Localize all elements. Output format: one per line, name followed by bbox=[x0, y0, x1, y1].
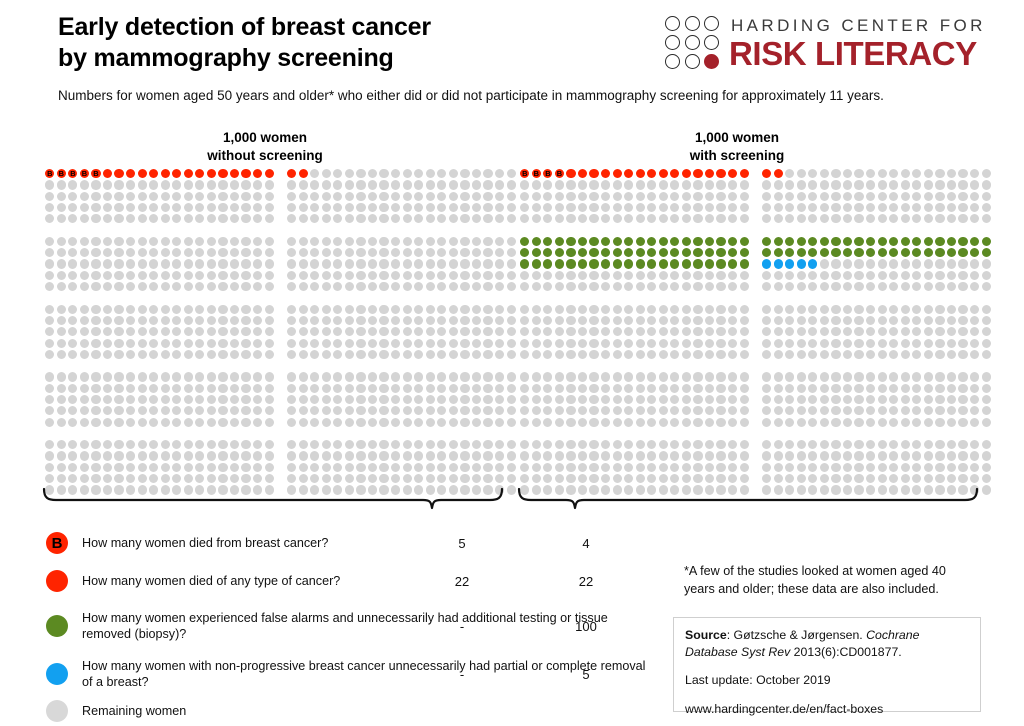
dot bbox=[45, 474, 54, 483]
row-band-gap bbox=[519, 224, 750, 231]
dot bbox=[532, 305, 541, 314]
row-band-gap bbox=[44, 360, 275, 367]
dot bbox=[103, 463, 112, 472]
dot bbox=[670, 350, 679, 359]
dot bbox=[716, 372, 725, 381]
dot bbox=[636, 474, 645, 483]
dot bbox=[345, 418, 354, 427]
dot bbox=[670, 237, 679, 246]
dot bbox=[91, 248, 100, 257]
dot bbox=[831, 271, 840, 280]
dot bbox=[901, 440, 910, 449]
dot bbox=[114, 463, 123, 472]
dot bbox=[958, 316, 967, 325]
dot bbox=[982, 248, 991, 257]
dot bbox=[195, 327, 204, 336]
dot bbox=[693, 271, 702, 280]
dot bbox=[403, 395, 412, 404]
dot bbox=[195, 192, 204, 201]
dot bbox=[543, 418, 552, 427]
dot bbox=[740, 316, 749, 325]
row-band-gap bbox=[286, 224, 517, 231]
dot bbox=[379, 418, 388, 427]
dot bbox=[728, 418, 737, 427]
dot bbox=[449, 248, 458, 257]
dot bbox=[495, 463, 504, 472]
dot bbox=[843, 395, 852, 404]
dot bbox=[68, 372, 77, 381]
dot bbox=[532, 406, 541, 415]
dot bbox=[68, 463, 77, 472]
dot bbox=[184, 259, 193, 268]
dot bbox=[636, 327, 645, 336]
dot bbox=[495, 406, 504, 415]
dot bbox=[578, 350, 587, 359]
dot bbox=[310, 259, 319, 268]
dot bbox=[682, 192, 691, 201]
dot bbox=[403, 406, 412, 415]
dot bbox=[878, 237, 887, 246]
dot bbox=[935, 327, 944, 336]
dot bbox=[207, 282, 216, 291]
dot bbox=[265, 248, 274, 257]
dot bbox=[184, 339, 193, 348]
dot bbox=[218, 192, 227, 201]
dot bbox=[80, 406, 89, 415]
dot bbox=[762, 451, 771, 460]
dot bbox=[287, 372, 296, 381]
dot bbox=[265, 372, 274, 381]
dot bbox=[636, 180, 645, 189]
dot bbox=[716, 406, 725, 415]
dot bbox=[103, 474, 112, 483]
dot bbox=[808, 418, 817, 427]
dot bbox=[808, 271, 817, 280]
dot bbox=[808, 248, 817, 257]
dot bbox=[45, 395, 54, 404]
dot bbox=[507, 203, 516, 212]
dot bbox=[218, 463, 227, 472]
dot bbox=[601, 440, 610, 449]
dot bbox=[253, 214, 262, 223]
dot bbox=[495, 214, 504, 223]
dot bbox=[299, 384, 308, 393]
dot bbox=[265, 203, 274, 212]
dot bbox=[103, 440, 112, 449]
dot bbox=[566, 440, 575, 449]
dot bbox=[472, 282, 481, 291]
dot bbox=[901, 451, 910, 460]
dot bbox=[460, 451, 469, 460]
dot bbox=[103, 214, 112, 223]
dot bbox=[310, 384, 319, 393]
dot bbox=[693, 305, 702, 314]
dot bbox=[391, 418, 400, 427]
dot bbox=[449, 271, 458, 280]
dot bbox=[762, 406, 771, 415]
dot bbox=[310, 474, 319, 483]
dot bbox=[647, 440, 656, 449]
dot bbox=[172, 259, 181, 268]
dot bbox=[126, 372, 135, 381]
dot bbox=[566, 180, 575, 189]
dot bbox=[705, 316, 714, 325]
dot bbox=[636, 169, 645, 178]
dot bbox=[126, 305, 135, 314]
dot bbox=[924, 451, 933, 460]
dot bbox=[414, 259, 423, 268]
dot bbox=[566, 339, 575, 348]
dot bbox=[555, 350, 564, 359]
dot bbox=[831, 463, 840, 472]
dot bbox=[740, 259, 749, 268]
dot bbox=[878, 259, 887, 268]
dot bbox=[114, 451, 123, 460]
brace-with-screening bbox=[517, 487, 979, 517]
dot bbox=[682, 259, 691, 268]
dot bbox=[578, 169, 587, 178]
dot bbox=[265, 463, 274, 472]
dot bbox=[345, 169, 354, 178]
dot bbox=[647, 237, 656, 246]
dot bbox=[80, 316, 89, 325]
dot bbox=[578, 418, 587, 427]
dot bbox=[172, 192, 181, 201]
dot bbox=[785, 406, 794, 415]
dot bbox=[80, 418, 89, 427]
dot bbox=[520, 339, 529, 348]
dot bbox=[356, 339, 365, 348]
dot bbox=[68, 440, 77, 449]
dot bbox=[253, 282, 262, 291]
dot bbox=[647, 372, 656, 381]
dot bbox=[543, 316, 552, 325]
logo-dot-grid-icon bbox=[665, 16, 723, 72]
dot bbox=[80, 440, 89, 449]
dot bbox=[414, 451, 423, 460]
dot bbox=[716, 192, 725, 201]
dot bbox=[716, 474, 725, 483]
dot bbox=[184, 305, 193, 314]
dot bbox=[91, 305, 100, 314]
dot bbox=[958, 305, 967, 314]
dot bbox=[287, 327, 296, 336]
dot bbox=[982, 339, 991, 348]
dot bbox=[578, 474, 587, 483]
dot bbox=[241, 451, 250, 460]
dot bbox=[970, 259, 979, 268]
dot bbox=[958, 451, 967, 460]
dot bbox=[114, 418, 123, 427]
dot bbox=[970, 463, 979, 472]
dot bbox=[495, 305, 504, 314]
dot bbox=[866, 237, 875, 246]
dot bbox=[91, 259, 100, 268]
dot bbox=[958, 327, 967, 336]
dot bbox=[659, 271, 668, 280]
dot bbox=[126, 203, 135, 212]
dot bbox=[601, 406, 610, 415]
dot bbox=[403, 384, 412, 393]
dot bbox=[126, 350, 135, 359]
dot bbox=[449, 395, 458, 404]
dot bbox=[520, 463, 529, 472]
dot bbox=[495, 203, 504, 212]
dot bbox=[820, 406, 829, 415]
dot bbox=[520, 180, 529, 189]
dot bbox=[820, 440, 829, 449]
dot bbox=[589, 406, 598, 415]
dot bbox=[693, 406, 702, 415]
source-url[interactable]: www.hardingcenter.de/en/fact-boxes bbox=[685, 701, 969, 718]
dot bbox=[126, 474, 135, 483]
dot bbox=[808, 339, 817, 348]
dot bbox=[705, 350, 714, 359]
dot bbox=[207, 350, 216, 359]
dot bbox=[808, 463, 817, 472]
dot bbox=[437, 180, 446, 189]
dot bbox=[728, 237, 737, 246]
dot bbox=[578, 282, 587, 291]
dot bbox=[555, 339, 564, 348]
dot bbox=[91, 180, 100, 189]
dot bbox=[138, 203, 147, 212]
dot bbox=[958, 180, 967, 189]
dot bbox=[391, 248, 400, 257]
dot bbox=[80, 395, 89, 404]
dot bbox=[947, 395, 956, 404]
dot bbox=[161, 406, 170, 415]
dot bbox=[982, 474, 991, 483]
dot bbox=[45, 440, 54, 449]
dot bbox=[495, 169, 504, 178]
dot bbox=[449, 463, 458, 472]
dot bbox=[149, 214, 158, 223]
dot bbox=[728, 406, 737, 415]
dot bbox=[218, 180, 227, 189]
dot bbox=[947, 463, 956, 472]
dot bbox=[138, 418, 147, 427]
dot bbox=[774, 169, 783, 178]
dot bbox=[820, 463, 829, 472]
dot bbox=[207, 440, 216, 449]
dot bbox=[854, 214, 863, 223]
dot bbox=[426, 384, 435, 393]
dot bbox=[901, 418, 910, 427]
dot bbox=[414, 406, 423, 415]
dot bbox=[808, 384, 817, 393]
dot bbox=[299, 451, 308, 460]
dot bbox=[265, 350, 274, 359]
dot bbox=[138, 169, 147, 178]
dot bbox=[287, 440, 296, 449]
dot bbox=[68, 384, 77, 393]
dot bbox=[287, 282, 296, 291]
dot bbox=[613, 316, 622, 325]
dot bbox=[253, 316, 262, 325]
dot bbox=[740, 237, 749, 246]
dot bbox=[483, 327, 492, 336]
dot bbox=[265, 384, 274, 393]
dot bbox=[333, 395, 342, 404]
dot bbox=[126, 339, 135, 348]
dot bbox=[636, 259, 645, 268]
dot bbox=[379, 463, 388, 472]
dot bbox=[449, 474, 458, 483]
dot bbox=[762, 237, 771, 246]
logo-dot-5 bbox=[685, 35, 700, 50]
dot bbox=[138, 180, 147, 189]
dot bbox=[912, 384, 921, 393]
dot bbox=[947, 305, 956, 314]
dot bbox=[820, 237, 829, 246]
dot bbox=[426, 192, 435, 201]
dot bbox=[241, 372, 250, 381]
dot bbox=[230, 339, 239, 348]
dot bbox=[613, 327, 622, 336]
dot bbox=[854, 271, 863, 280]
dot bbox=[958, 395, 967, 404]
dot bbox=[589, 282, 598, 291]
dot bbox=[184, 316, 193, 325]
dot bbox=[797, 350, 806, 359]
dot bbox=[912, 395, 921, 404]
dot bbox=[601, 192, 610, 201]
dot bbox=[241, 259, 250, 268]
dot bbox=[80, 339, 89, 348]
dot bbox=[762, 372, 771, 381]
dot bbox=[91, 192, 100, 201]
dot bbox=[624, 203, 633, 212]
dot bbox=[172, 237, 181, 246]
dot bbox=[253, 451, 262, 460]
dot bbox=[970, 418, 979, 427]
dot bbox=[555, 192, 564, 201]
blue-dot-icon bbox=[46, 663, 68, 685]
dot bbox=[333, 192, 342, 201]
dot bbox=[241, 418, 250, 427]
dot bbox=[483, 406, 492, 415]
dot bbox=[670, 203, 679, 212]
dot bbox=[345, 237, 354, 246]
dot bbox=[149, 169, 158, 178]
dot bbox=[613, 192, 622, 201]
dot bbox=[322, 305, 331, 314]
dot bbox=[716, 316, 725, 325]
dot bbox=[601, 180, 610, 189]
dot bbox=[68, 451, 77, 460]
dot bbox=[982, 305, 991, 314]
dot bbox=[241, 192, 250, 201]
dot bbox=[114, 440, 123, 449]
dot bbox=[728, 203, 737, 212]
dot bbox=[613, 305, 622, 314]
dot bbox=[878, 305, 887, 314]
dot bbox=[80, 169, 89, 178]
dot bbox=[483, 440, 492, 449]
dot bbox=[947, 350, 956, 359]
dot bbox=[924, 350, 933, 359]
dot bbox=[543, 339, 552, 348]
dot bbox=[299, 271, 308, 280]
dot bbox=[958, 271, 967, 280]
dot bbox=[613, 214, 622, 223]
dot bbox=[878, 395, 887, 404]
dot bbox=[310, 169, 319, 178]
dot bbox=[172, 463, 181, 472]
dot bbox=[379, 180, 388, 189]
dot bbox=[901, 271, 910, 280]
dot bbox=[45, 282, 54, 291]
dot bbox=[356, 192, 365, 201]
dot bbox=[682, 316, 691, 325]
dot bbox=[982, 271, 991, 280]
legend-value-with-screening: 5 bbox=[560, 667, 612, 682]
dot bbox=[391, 203, 400, 212]
dot bbox=[80, 259, 89, 268]
dot bbox=[808, 192, 817, 201]
dot bbox=[68, 214, 77, 223]
dot bbox=[138, 474, 147, 483]
dot bbox=[924, 339, 933, 348]
dot bbox=[624, 406, 633, 415]
dot bbox=[253, 395, 262, 404]
legend-value-with-screening: 4 bbox=[560, 536, 612, 551]
dot bbox=[184, 372, 193, 381]
dot bbox=[68, 327, 77, 336]
dot bbox=[403, 169, 412, 178]
dot bbox=[368, 214, 377, 223]
dot bbox=[426, 180, 435, 189]
dot bbox=[647, 418, 656, 427]
dot bbox=[555, 316, 564, 325]
dot bbox=[368, 282, 377, 291]
dot bbox=[379, 339, 388, 348]
dot bbox=[207, 169, 216, 178]
dot bbox=[403, 316, 412, 325]
dot bbox=[483, 474, 492, 483]
dot bbox=[589, 350, 598, 359]
dot bbox=[682, 418, 691, 427]
dot bbox=[924, 474, 933, 483]
logo-dot-7 bbox=[665, 54, 680, 69]
dot bbox=[368, 192, 377, 201]
dot bbox=[379, 316, 388, 325]
dot bbox=[230, 282, 239, 291]
dot bbox=[345, 406, 354, 415]
dot bbox=[472, 463, 481, 472]
dot bbox=[138, 259, 147, 268]
dot bbox=[797, 327, 806, 336]
dot bbox=[878, 180, 887, 189]
dot bbox=[613, 395, 622, 404]
dot bbox=[356, 203, 365, 212]
dot bbox=[103, 451, 112, 460]
dot bbox=[207, 271, 216, 280]
dot bbox=[333, 259, 342, 268]
dot bbox=[172, 384, 181, 393]
dot bbox=[566, 406, 575, 415]
source-tail: 2013(6):CD001877. bbox=[790, 645, 901, 659]
dot bbox=[460, 271, 469, 280]
dot bbox=[333, 440, 342, 449]
dot bbox=[970, 192, 979, 201]
dot bbox=[299, 169, 308, 178]
dot bbox=[161, 192, 170, 201]
dot bbox=[230, 271, 239, 280]
dot bbox=[114, 474, 123, 483]
dot bbox=[253, 248, 262, 257]
